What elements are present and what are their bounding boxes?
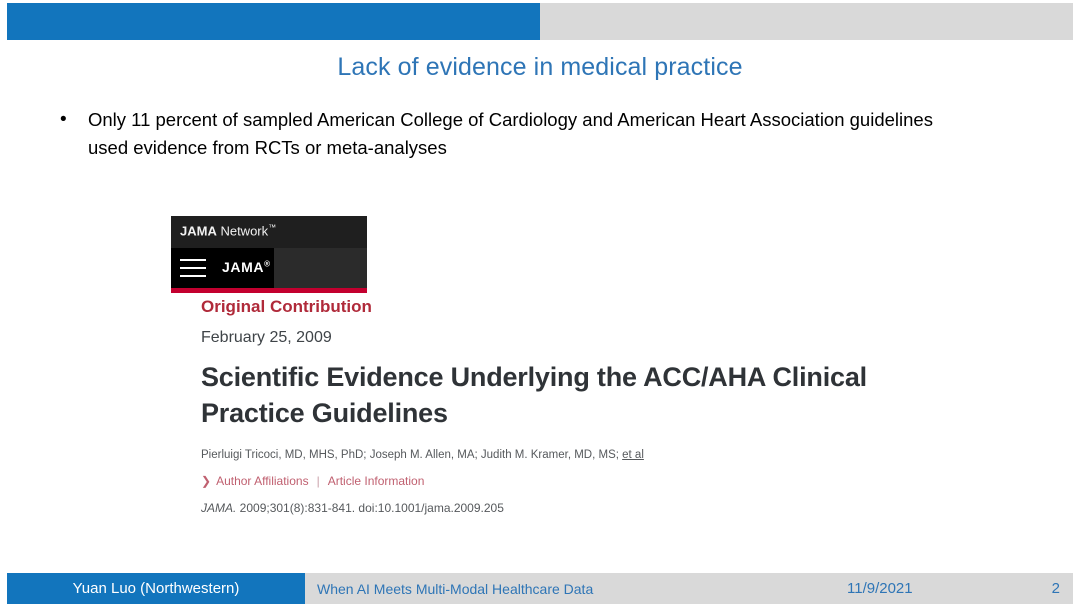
footer-presentation-title: When AI Meets Multi-Modal Healthcare Dat… [317,573,593,604]
footer-author-block: Yuan Luo (Northwestern) [7,573,305,604]
slide-footer: Yuan Luo (Northwestern) When AI Meets Mu… [7,573,1073,604]
jama-article-body: Original Contribution February 25, 2009 … [201,296,961,516]
article-information-link[interactable]: Article Information [328,473,425,489]
bullet-marker-icon: • [60,106,88,134]
article-category-label: Original Contribution [201,296,961,318]
hamburger-line [180,259,206,261]
article-citation: JAMA. 2009;301(8):831-841. doi:10.1001/j… [201,500,961,516]
article-publication-date: February 25, 2009 [201,327,961,349]
bullet-list: • Only 11 percent of sampled American Co… [60,106,950,162]
article-title: Scientific Evidence Underlying the ACC/A… [201,359,891,431]
footer-date: 11/9/2021 [847,573,913,604]
author-affiliations-link[interactable]: Author Affiliations [216,473,309,489]
link-separator: | [317,473,320,489]
jama-network-logo-bold: JAMA [180,223,217,238]
article-author-names: Pierluigi Tricoci, MD, MHS, PhD; Joseph … [201,449,622,461]
jama-network-logo-rest: Network [217,223,268,238]
article-et-al-link[interactable]: et al [622,449,644,461]
article-links-row: ❯ Author Affiliations | Article Informat… [201,473,961,489]
article-citation-rest: 2009;301(8):831-841. doi:10.1001/jama.20… [236,501,504,515]
jama-logo-bar: JAMA® [171,248,367,288]
jama-network-trademark-mark: ™ [268,223,276,232]
bullet-text: Only 11 percent of sampled American Coll… [88,106,950,162]
hamburger-line [180,275,206,277]
hamburger-menu-icon[interactable] [180,259,206,277]
jama-network-masthead: JAMA Network™ [171,216,367,248]
jama-wordmark-text: JAMA [222,259,264,275]
hamburger-line [180,267,206,269]
jama-registered-mark: ® [264,259,271,268]
jama-wordmark[interactable]: JAMA® [222,259,271,275]
top-accent-bar-fill [7,3,540,40]
article-author-list: Pierluigi Tricoci, MD, MHS, PhD; Joseph … [201,447,961,463]
jama-red-divider [171,288,367,293]
jama-article-screenshot: JAMA Network™ JAMA® [171,216,367,293]
page-title: Lack of evidence in medical practice [0,53,1080,82]
article-citation-journal: JAMA. [201,501,236,515]
chevron-right-icon: ❯ [201,473,211,489]
footer-author-name: Yuan Luo (Northwestern) [73,580,240,597]
footer-page-number: 2 [1052,573,1060,604]
jama-network-logo: JAMA Network™ [180,223,276,238]
top-accent-bar [7,3,1073,40]
